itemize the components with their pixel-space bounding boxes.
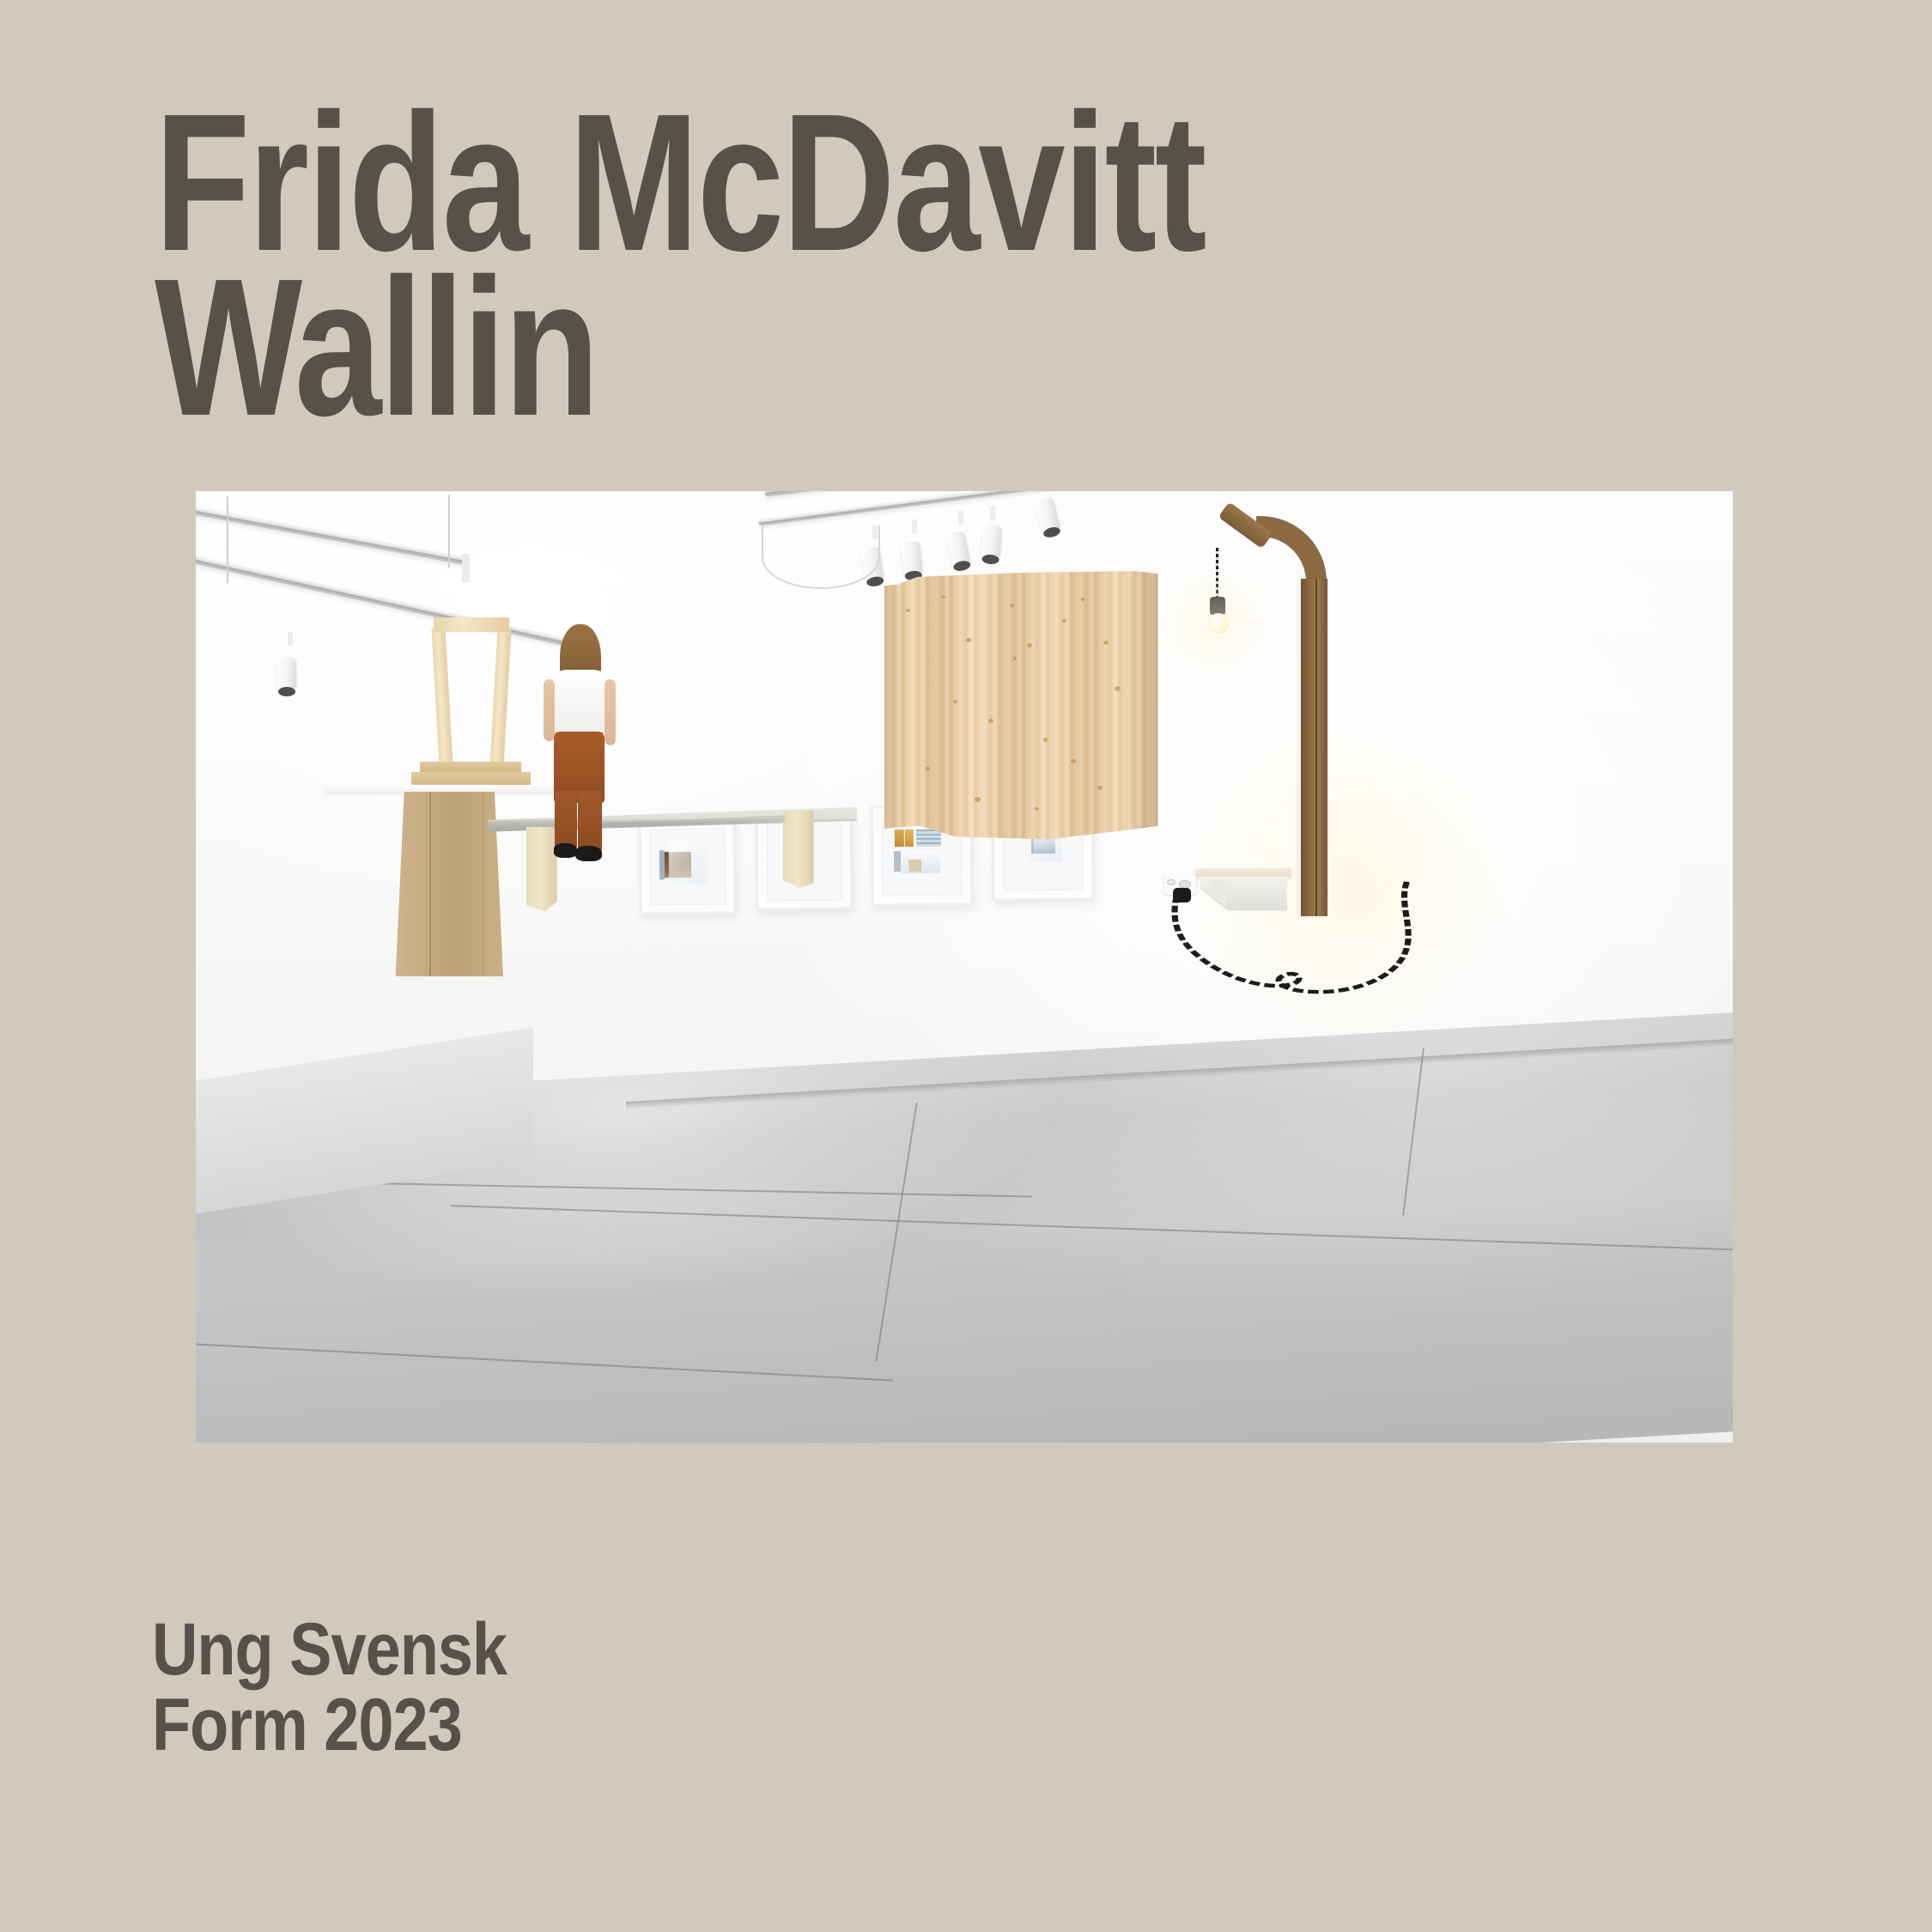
gallery-visitor <box>534 624 633 862</box>
pine-portal-base-lower <box>411 772 532 786</box>
visitor-arm-right <box>605 679 616 746</box>
frame-artwork <box>915 829 940 847</box>
caption-line-1: Ung Svensk <box>152 1613 507 1688</box>
pine-portal-base-upper <box>420 762 521 772</box>
lamp-socket <box>1210 597 1226 615</box>
track-power-cable <box>762 526 880 589</box>
frame-artwork <box>905 829 914 847</box>
wood-knot <box>926 767 930 770</box>
wood-knot <box>1013 657 1017 660</box>
visitor-shoe-right <box>575 846 602 861</box>
installation-photo <box>196 491 1733 1443</box>
track-bracket <box>462 554 470 582</box>
track-suspension-wire <box>227 496 228 584</box>
caption-line-2: Form 2023 <box>152 1688 507 1764</box>
visitor-shoe-left <box>554 843 577 858</box>
visitor-shirt <box>550 670 611 737</box>
spotlight-arm <box>288 632 293 646</box>
braided-power-cord <box>1133 881 1472 1014</box>
wood-knot <box>953 700 957 703</box>
wall-shelf-top <box>1195 868 1292 878</box>
frame-artwork-overlay <box>668 841 708 885</box>
page-title: Frida McDavitt Wallin <box>155 101 1400 430</box>
plinth-corner-edge <box>483 792 484 976</box>
framed-work <box>638 818 737 916</box>
title-line-2: Wallin <box>155 266 1151 431</box>
track-spotlight <box>277 658 296 690</box>
poster-canvas: Frida McDavitt Wallin <box>0 0 1932 1932</box>
pine-shading <box>884 571 1158 839</box>
visitor-leg-right <box>578 791 601 850</box>
curved-pine-wall-panel <box>884 571 1158 839</box>
wood-knot <box>942 595 945 598</box>
wood-knot <box>1043 738 1048 742</box>
visitor-leg-left <box>555 791 577 848</box>
mdf-plinth <box>396 792 503 976</box>
plinth-corner-edge <box>429 792 431 976</box>
bench-leg-right <box>783 811 814 888</box>
wood-knot <box>1010 604 1014 607</box>
lamp-cord-groove <box>1315 579 1317 916</box>
wood-knot <box>975 797 981 802</box>
exhibition-caption: Ung Svensk Form 2023 <box>152 1613 564 1763</box>
track-suspension-wire <box>448 495 450 567</box>
spotlight-arm <box>912 519 917 533</box>
lamp-bulb <box>1208 613 1229 634</box>
pine-portal-lintel <box>434 617 509 632</box>
track-spotlight <box>902 541 923 575</box>
wood-knot <box>1071 759 1076 763</box>
track-spotlight <box>981 525 1003 558</box>
frame-artwork-detail <box>908 859 921 872</box>
frame-artwork-detail <box>659 850 665 879</box>
spotlight-arm <box>990 507 995 520</box>
frame-artwork-detail <box>893 851 900 872</box>
spotlight-arm <box>958 511 963 525</box>
bent-wood-lamp-post <box>1301 579 1327 916</box>
lamp-hanging-cord <box>1216 548 1218 597</box>
visitor-arm-left <box>544 679 555 741</box>
wood-knot <box>988 719 993 723</box>
frame-artwork <box>894 829 903 847</box>
